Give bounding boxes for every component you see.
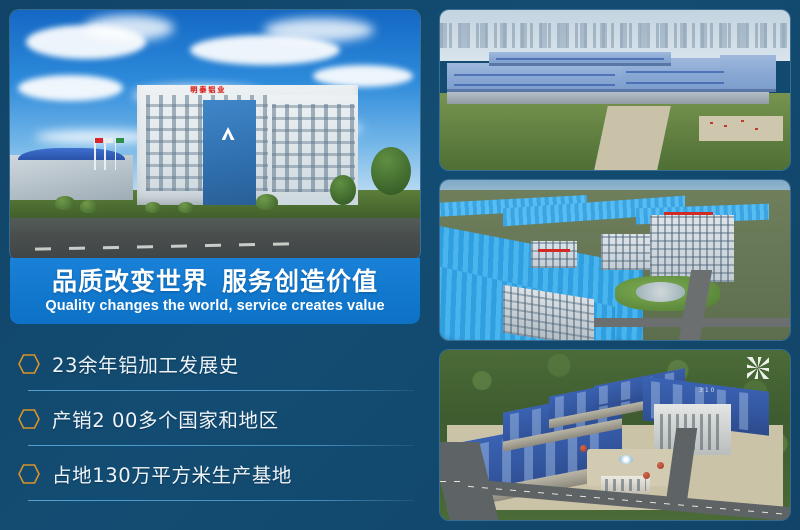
- internal-road: [580, 318, 790, 328]
- hexagon-icon: [18, 409, 40, 429]
- roof-ridge: [496, 58, 664, 60]
- industrial-park-render-photo: 310: [440, 350, 790, 520]
- slogan-chinese-part1: 品质改变世界: [52, 267, 208, 296]
- building-sign: [538, 249, 570, 252]
- roof-ridge: [626, 71, 724, 73]
- low-office-block: [531, 241, 577, 268]
- roof-ridge: [454, 84, 615, 86]
- industrial-park-render-scene: 310: [440, 350, 790, 520]
- vehicle: [710, 122, 713, 124]
- flagpole: [94, 138, 96, 171]
- list-item: 23余年铝加工发展史: [10, 336, 420, 391]
- shrub: [55, 196, 75, 210]
- aerial-plant-roofs-scene: [440, 180, 790, 340]
- factory-roof: [447, 63, 622, 92]
- flagpole: [115, 138, 117, 171]
- promo-banner-page: 明泰铝业 品质改变世界服务创造价值 Quality changes the wo…: [0, 0, 800, 530]
- list-item-label: 占地130万平方米生产基地: [52, 459, 292, 488]
- fountain-plaza: [636, 282, 685, 301]
- shrub: [178, 202, 194, 213]
- slogan-english: Quality changes the world, service creat…: [45, 298, 384, 314]
- office-headquarters-photo: 明泰铝业: [10, 10, 420, 260]
- shrub: [256, 194, 278, 210]
- flagpole: [104, 138, 106, 171]
- slogan-chinese-part2: 服务创造价值: [222, 267, 378, 296]
- vehicle: [755, 128, 758, 130]
- cloud: [264, 18, 374, 42]
- roof-ridge: [626, 82, 724, 84]
- vehicle: [724, 125, 727, 127]
- slogan-banner: 品质改变世界服务创造价值 Quality changes the world, …: [10, 258, 420, 324]
- shrub: [80, 200, 98, 213]
- roof-ridge: [454, 74, 615, 76]
- list-item-label: 23余年铝加工发展史: [52, 349, 239, 378]
- factory-roof: [720, 55, 776, 92]
- highlights-list: 23余年铝加工发展史 产销2 00多个国家和地区 占地130万平方米生产基地: [10, 336, 420, 522]
- aerial-factory-wide-photo: [440, 10, 790, 170]
- glass-curtain-wall: [203, 100, 256, 205]
- sparkle-icon: [747, 357, 769, 379]
- cloud: [84, 15, 174, 41]
- hexagon-icon: [18, 354, 40, 374]
- divider: [28, 500, 414, 501]
- list-item-label: 产销2 00多个国家和地区: [52, 404, 279, 433]
- gate-sign-text: 310: [699, 387, 716, 394]
- low-office-block: [601, 234, 650, 269]
- cloud: [18, 75, 123, 101]
- vehicle: [741, 120, 744, 122]
- factory-facade: [447, 90, 769, 104]
- distant-city-skyline: [440, 23, 790, 49]
- slogan-chinese: 品质改变世界服务创造价值: [52, 268, 378, 296]
- building-sign-text: 明泰铝业: [190, 85, 226, 95]
- tree: [330, 175, 356, 205]
- hero-scene: 明泰铝业: [10, 10, 420, 260]
- hexagon-icon: [18, 464, 40, 484]
- list-item: 占地130万平方米生产基地: [10, 446, 420, 501]
- shrub: [145, 202, 161, 213]
- aerial-factory-wide-scene: [440, 10, 790, 170]
- tree: [371, 147, 411, 195]
- list-item: 产销2 00多个国家和地区: [10, 391, 420, 446]
- cloud: [313, 65, 413, 87]
- rooftop-sign: [664, 212, 713, 215]
- aerial-plant-roofs-photo: [440, 180, 790, 340]
